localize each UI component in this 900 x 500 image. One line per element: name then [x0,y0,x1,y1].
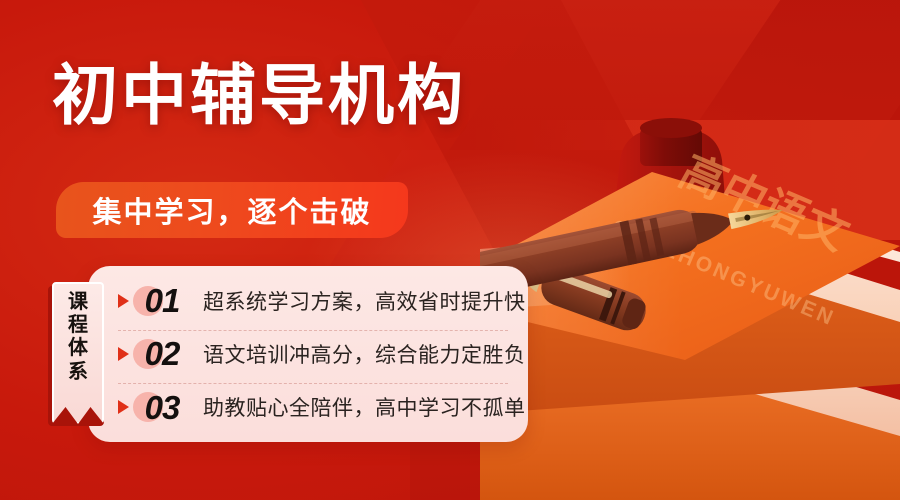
arrow-right-icon [118,294,129,308]
section-label-ribbon: 课 程 体 系 [48,282,104,428]
arrow-right-icon [118,347,129,361]
item-text: 语文培训冲高分，综合能力定胜负 [203,339,526,369]
arrow-right-icon [118,400,129,414]
feature-card: 01 超系统学习方案，高效省时提升快 02 语文培训冲高分，综合能力定胜负 03 [88,266,528,442]
ribbon-char: 课 [68,291,88,314]
list-item: 03 助教贴心全陪伴，高中学习不孤单 [118,383,512,431]
item-number-wrap: 03 [131,391,193,424]
item-number: 02 [145,337,180,370]
item-number-wrap: 01 [131,284,193,317]
item-text: 助教贴心全陪伴，高中学习不孤单 [203,392,526,422]
subtitle-text: 集中学习，逐个击破 [92,189,371,231]
item-number: 03 [145,391,180,424]
item-number-wrap: 02 [131,337,193,370]
ribbon-char: 程 [68,314,88,337]
ribbon-face: 课 程 体 系 [52,282,104,424]
promo-banner: 高中语文 GAOZHONGYUWEN [0,0,900,500]
item-text: 超系统学习方案，高效省时提升快 [203,286,526,316]
feature-list: 01 超系统学习方案，高效省时提升快 02 语文培训冲高分，综合能力定胜负 03 [118,274,512,434]
ribbon-char: 系 [68,361,88,384]
list-item: 02 语文培训冲高分，综合能力定胜负 [118,330,512,378]
item-number: 01 [145,284,180,317]
subtitle-badge: 集中学习，逐个击破 [56,182,408,238]
list-item: 01 超系统学习方案，高效省时提升快 [118,277,512,325]
page-title: 初中辅导机构 [52,62,466,128]
ribbon-char: 体 [68,337,88,360]
